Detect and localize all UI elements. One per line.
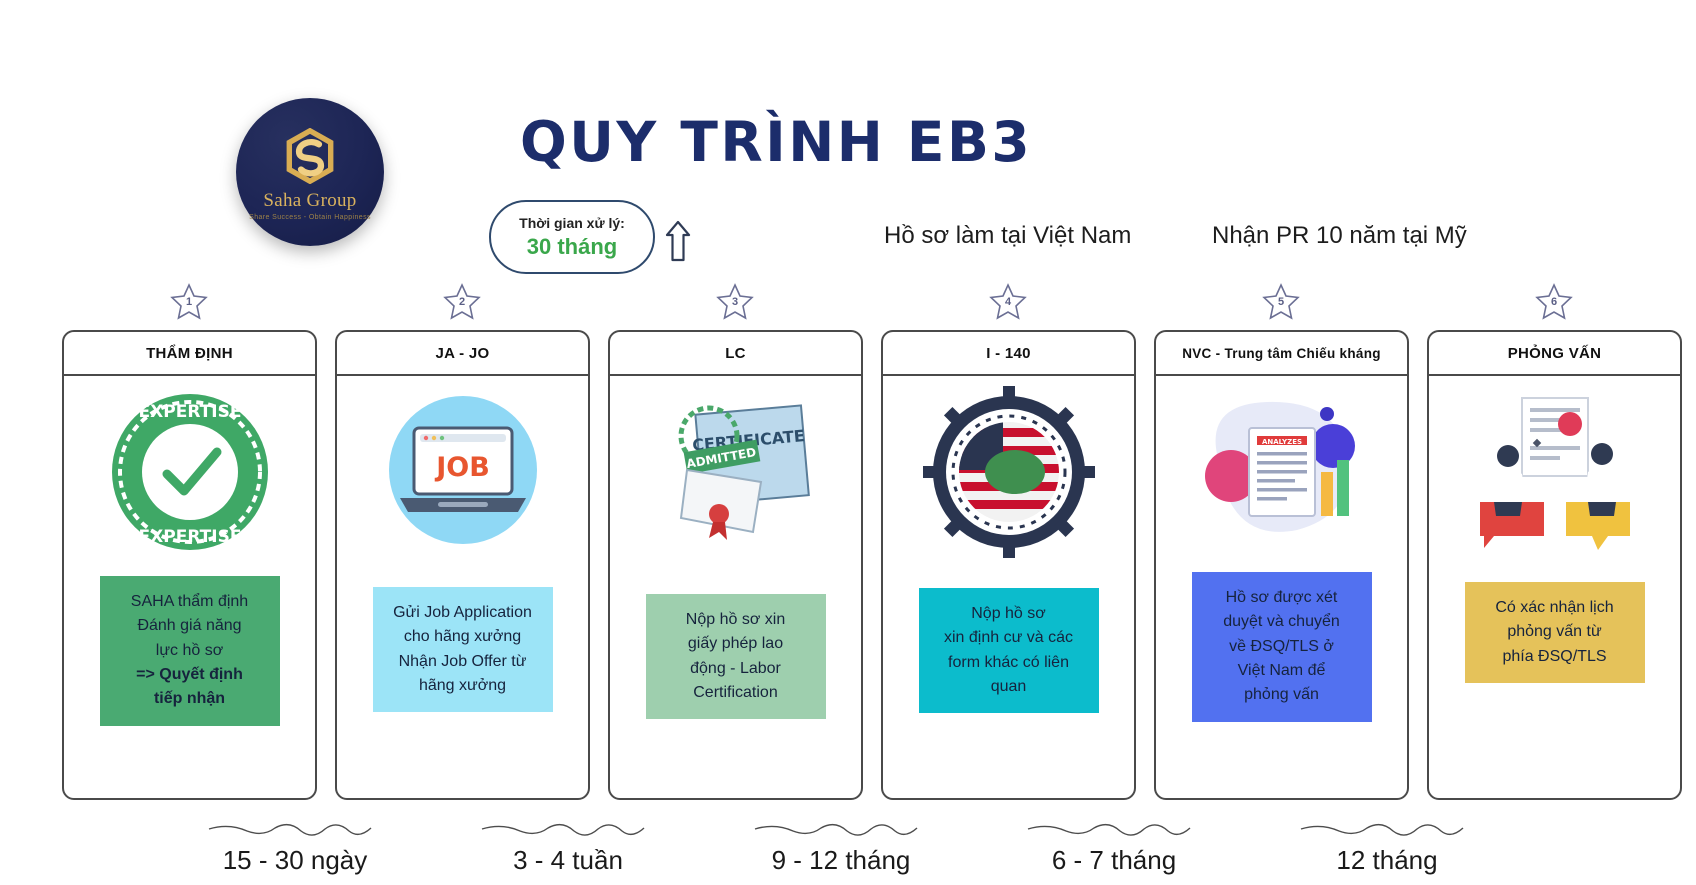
step-star-6: 6 — [1535, 283, 1573, 321]
duration-label-2: 3 - 4 tuần — [453, 845, 683, 876]
note-line: Nộp hồ sơ — [927, 602, 1091, 626]
step-card-3[interactable]: LC CERTIFICATE ADMITTED Nộp hồ sơ xin gi… — [608, 330, 863, 800]
step-note-6: Có xác nhận lịch phỏng vấn từ phía ĐSQ/T… — [1465, 582, 1645, 683]
step-card-4[interactable]: I - 140 — [881, 330, 1136, 800]
processing-time-value: 30 tháng — [527, 234, 617, 260]
logo-name: Saha Group — [263, 190, 356, 212]
step-number-2: 2 — [443, 296, 481, 308]
step-number-4: 4 — [989, 296, 1027, 308]
note-line: Gửi Job Application — [381, 601, 545, 625]
divider-squiggle-2 — [478, 820, 663, 838]
saha-hexagon-logo-icon — [283, 128, 337, 184]
header-note-pr: Nhận PR 10 năm tại Mỹ — [1212, 222, 1467, 250]
note-line: về ĐSQ/TLS ở — [1200, 635, 1364, 659]
step-header-1: THẨM ĐỊNH — [64, 332, 315, 376]
svg-text:ANALYZES: ANALYZES — [1261, 438, 1301, 446]
page-title: QUY TRÌNH EB3 — [520, 110, 1032, 174]
note-line: duyệt và chuyển — [1200, 610, 1364, 634]
note-line: phỏng vấn — [1200, 683, 1364, 707]
note-line: phía ĐSQ/TLS — [1473, 645, 1637, 669]
divider-squiggle-1 — [205, 820, 390, 838]
note-line-bold: tiếp nhận — [108, 687, 272, 711]
step-note-1: SAHA thẩm định Đánh giá năng lực hồ sơ =… — [100, 576, 280, 726]
step-star-1: 1 — [170, 283, 208, 321]
duration-label-4: 6 - 7 tháng — [999, 845, 1229, 876]
step-header-4: I - 140 — [883, 332, 1134, 376]
svg-text:EXPERTISE: EXPERTISE — [138, 402, 241, 422]
note-line: form khác có liên — [927, 651, 1091, 675]
processing-time-label: Thời gian xử lý: — [519, 215, 625, 231]
certificate-icon: CERTIFICATE ADMITTED — [641, 384, 831, 559]
step-number-5: 5 — [1262, 296, 1300, 308]
note-line: giấy phép lao — [654, 632, 818, 656]
laptop-job-icon: JOB — [368, 384, 558, 559]
step-card-1[interactable]: THẨM ĐỊNH EXPERTISE EXPERTISE SAHA thẩm … — [62, 330, 317, 800]
note-line: Hồ sơ được xét — [1200, 586, 1364, 610]
document-analysis-icon: ANALYZES — [1187, 384, 1377, 559]
step-note-3: Nộp hồ sơ xin giấy phép lao động - Labor… — [646, 594, 826, 719]
svg-text:JOB: JOB — [434, 452, 490, 483]
note-line: SAHA thẩm định — [108, 590, 272, 614]
step-header-6: PHỎNG VẤN — [1429, 332, 1680, 376]
header-note-vietnam: Hồ sơ làm tại Việt Nam — [884, 222, 1131, 250]
note-line: Nhận Job Offer từ — [381, 650, 545, 674]
step-header-5: NVC - Trung tâm Chiếu kháng — [1156, 332, 1407, 376]
saha-group-logo: Saha Group Share Success - Obtain Happin… — [236, 98, 384, 246]
divider-squiggle-4 — [1024, 820, 1209, 838]
step-number-6: 6 — [1535, 296, 1573, 308]
svg-text:EXPERTISE: EXPERTISE — [138, 527, 241, 547]
note-line: Certification — [654, 681, 818, 705]
step-card-5[interactable]: NVC - Trung tâm Chiếu kháng ANALYZES Hồ … — [1154, 330, 1409, 800]
step-star-4: 4 — [989, 283, 1027, 321]
note-line: Nộp hồ sơ xin — [654, 608, 818, 632]
step-star-2: 2 — [443, 283, 481, 321]
step-number-3: 3 — [716, 296, 754, 308]
divider-squiggle-3 — [751, 820, 936, 838]
step-note-2: Gửi Job Application cho hãng xưởng Nhận … — [373, 587, 553, 712]
logo-tagline: Share Success - Obtain Happiness — [249, 214, 371, 221]
note-line: quan — [927, 675, 1091, 699]
note-line: động - Labor — [654, 657, 818, 681]
duration-label-3: 9 - 12 tháng — [726, 845, 956, 876]
step-note-5: Hồ sơ được xét duyệt và chuyển về ĐSQ/TL… — [1192, 572, 1372, 722]
note-line: Đánh giá năng — [108, 614, 272, 638]
note-line: Việt Nam để — [1200, 659, 1364, 683]
step-header-2: JA - JO — [337, 332, 588, 376]
divider-squiggle-5 — [1297, 820, 1482, 838]
duration-label-5: 12 tháng — [1272, 845, 1502, 876]
infographic-page: Saha Group Share Success - Obtain Happin… — [0, 0, 1696, 885]
up-arrow-icon — [665, 220, 691, 262]
step-note-4: Nộp hồ sơ xin định cư và các form khác c… — [919, 588, 1099, 713]
note-line: hãng xưởng — [381, 674, 545, 698]
step-card-2[interactable]: JA - JO JOB Gửi Job Application cho hãng… — [335, 330, 590, 800]
expertise-badge-icon: EXPERTISE EXPERTISE — [95, 384, 285, 559]
interview-people-icon — [1460, 384, 1650, 559]
step-star-5: 5 — [1262, 283, 1300, 321]
note-line-bold: => Quyết định — [108, 663, 272, 687]
note-line: lực hồ sơ — [108, 639, 272, 663]
step-card-6[interactable]: PHỎNG VẤN Có xác nhận l — [1427, 330, 1682, 800]
step-star-3: 3 — [716, 283, 754, 321]
step-number-1: 1 — [170, 296, 208, 308]
processing-time-badge: Thời gian xử lý: 30 tháng — [489, 200, 655, 274]
note-line: xin định cư và các — [927, 626, 1091, 650]
note-line: phỏng vấn từ — [1473, 620, 1637, 644]
duration-label-1: 15 - 30 ngày — [180, 845, 410, 876]
note-line: cho hãng xưởng — [381, 625, 545, 649]
note-line: Có xác nhận lịch — [1473, 596, 1637, 620]
step-header-3: LC — [610, 332, 861, 376]
usa-gear-flag-icon — [914, 384, 1104, 559]
